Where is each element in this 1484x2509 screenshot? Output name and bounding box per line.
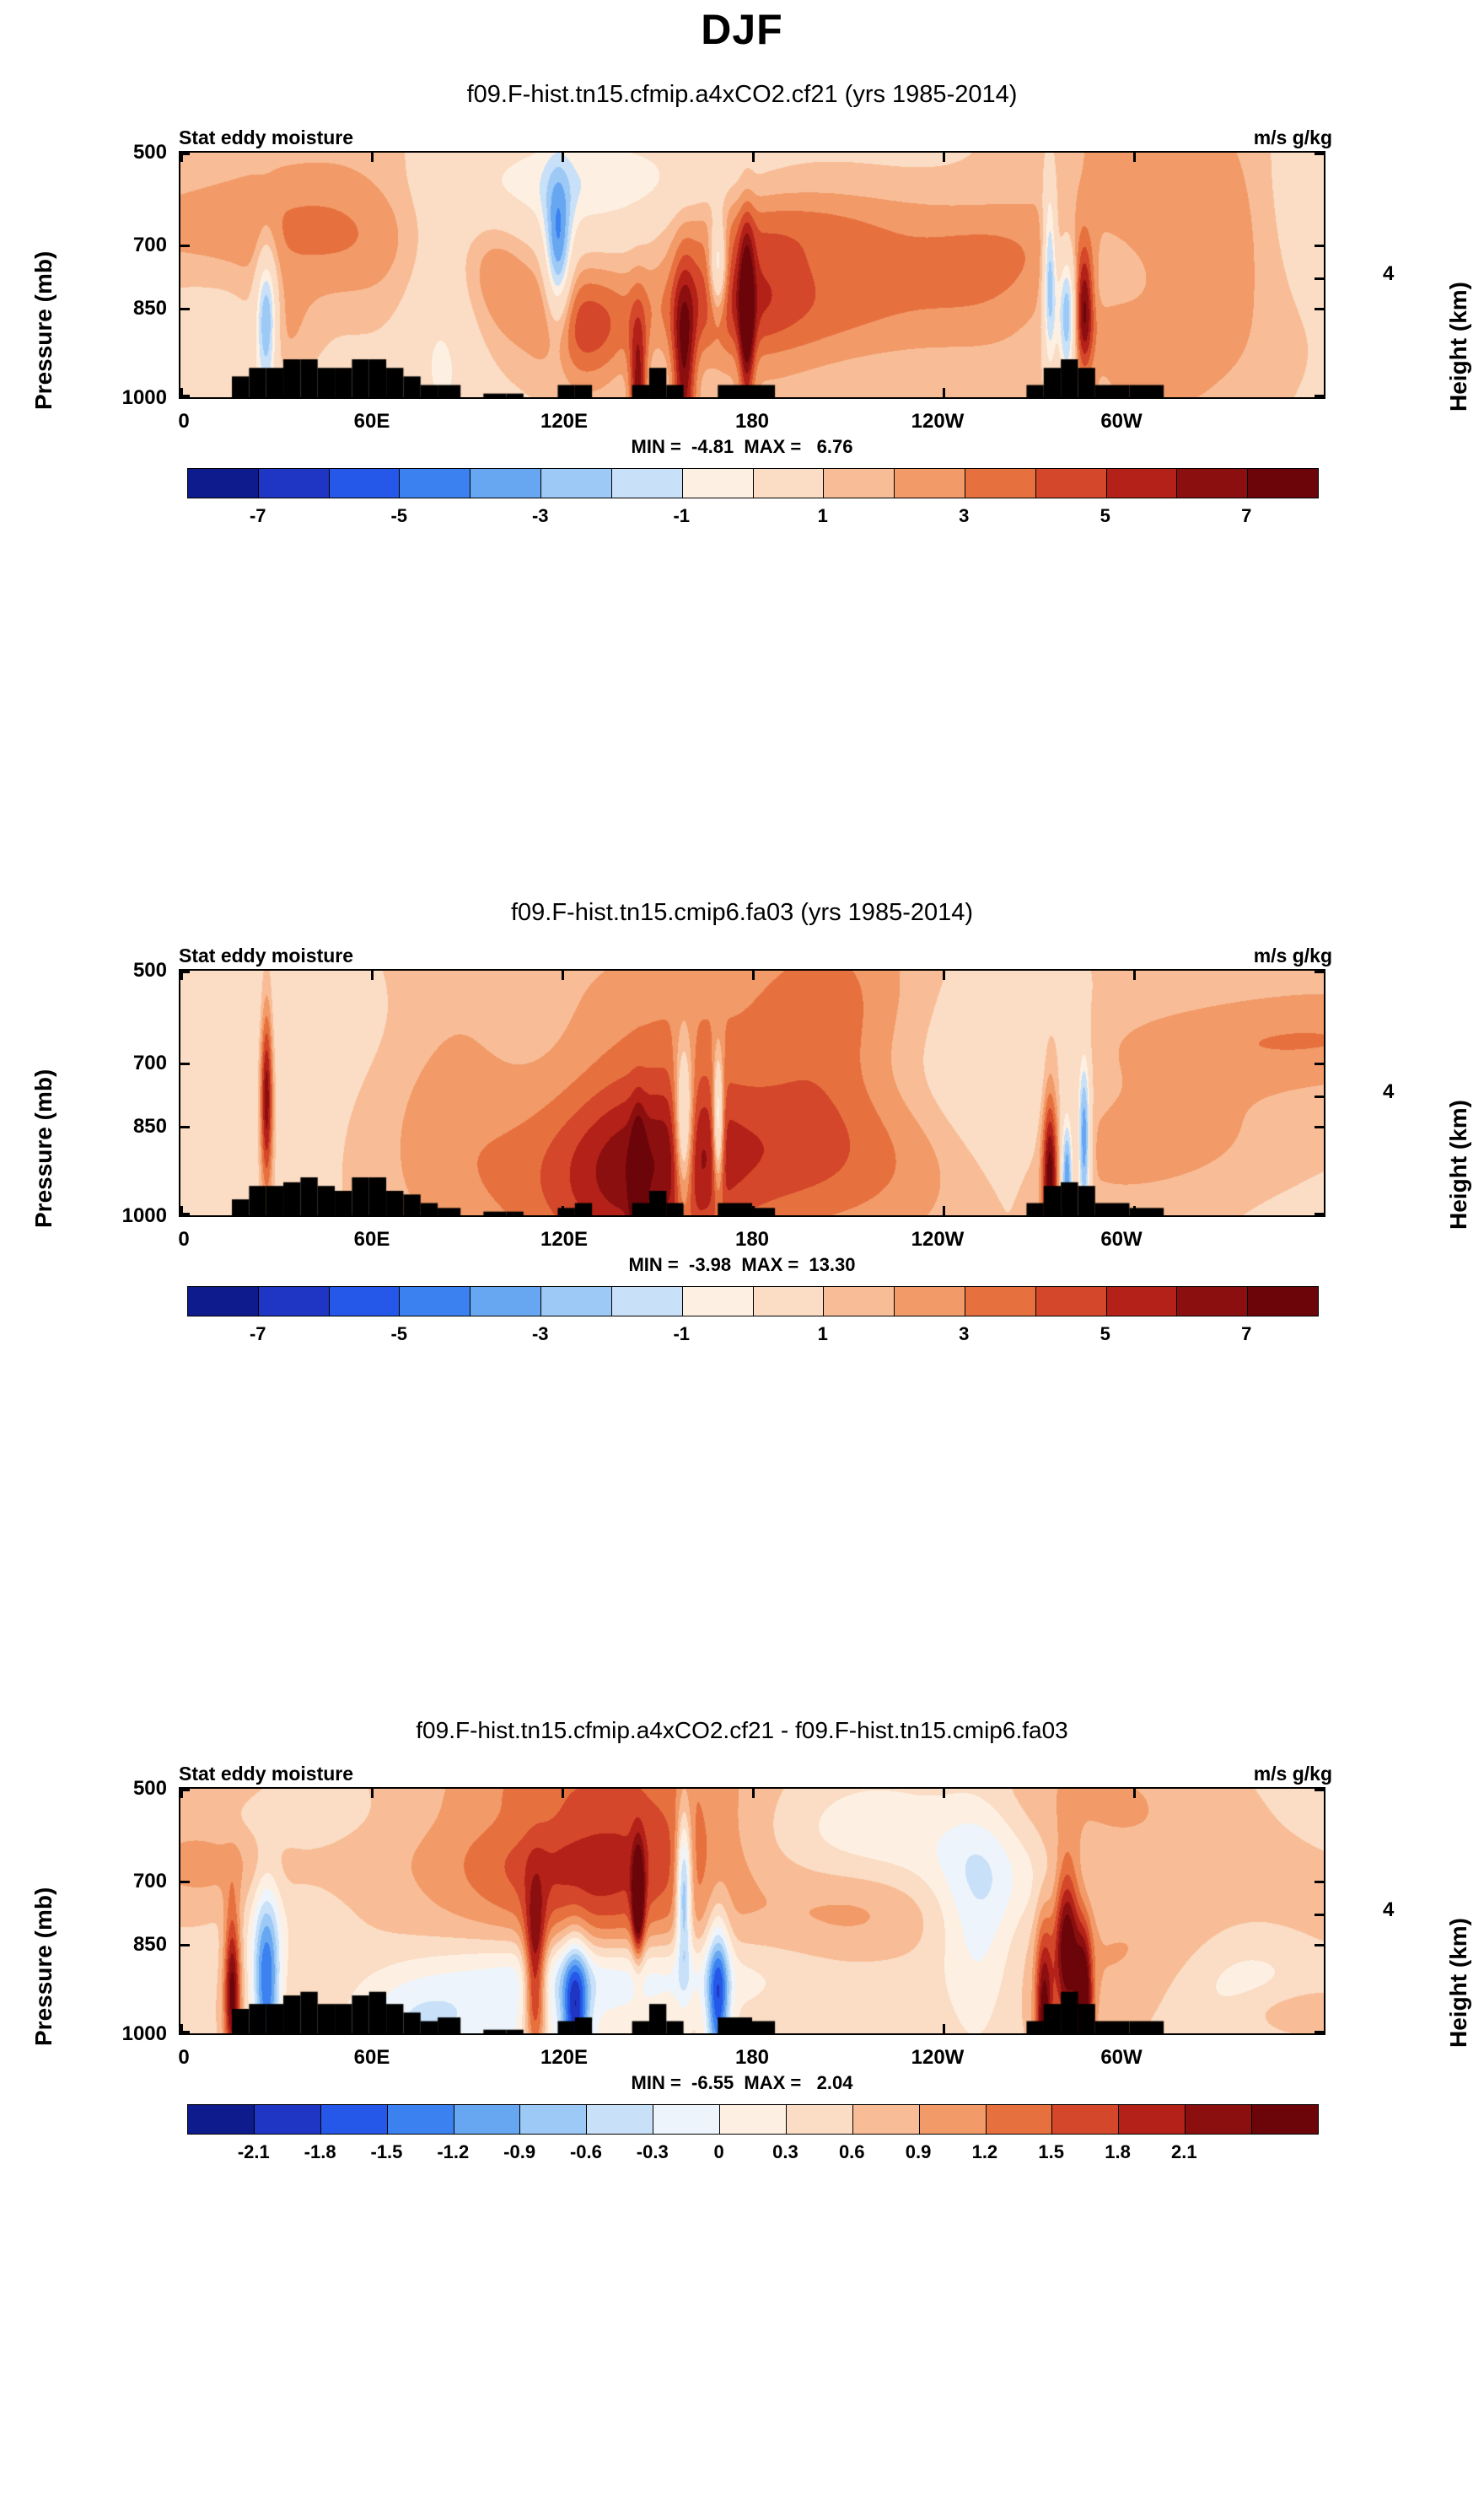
- colorbar-cell: [612, 1287, 683, 1316]
- colorbar-cell: [520, 2105, 587, 2134]
- x-tickmark: [371, 1206, 374, 1215]
- colorbar-tick-label: -7: [216, 505, 300, 527]
- colorbar-cell: [1052, 2105, 1119, 2134]
- panel-2-xtick-0: 0: [159, 1228, 209, 1252]
- x-tickmark: [1133, 388, 1136, 397]
- colorbar-tick-label: 5: [1063, 1323, 1148, 1345]
- colorbar-cell: [188, 1287, 259, 1316]
- panel-1-xtick-180: 180: [718, 410, 786, 433]
- main-title: DJF: [0, 5, 1484, 54]
- y-tickmark: [1315, 395, 1324, 397]
- y-tickmark: [180, 245, 190, 247]
- panel-3-xtick-180: 180: [718, 2046, 786, 2070]
- colorbar-cell: [965, 1287, 1036, 1316]
- y-tickmark: [180, 395, 190, 397]
- x-tickmark: [752, 388, 755, 397]
- colorbar-cell: [824, 1287, 895, 1316]
- panel-3-minmax: MIN = -6.55 MAX = 2.04: [0, 2072, 1484, 2094]
- colorbar-cell: [188, 2105, 255, 2134]
- panel-1-xtick-120E: 120E: [522, 410, 606, 433]
- y-tickmark: [1315, 971, 1324, 973]
- y-tickmark: [180, 1063, 190, 1065]
- panel-1-minmax: MIN = -4.81 MAX = 6.76: [0, 436, 1484, 458]
- colorbar-cell: [188, 469, 259, 498]
- colorbar-cell: [470, 469, 541, 498]
- y-tickmark: [1315, 1944, 1324, 1946]
- colorbar-tick-label: -5: [357, 505, 441, 527]
- colorbar-tick-label: -1: [639, 1323, 723, 1345]
- x-tickmark: [943, 971, 945, 980]
- panel-3-ytick-500: 500: [7, 1777, 167, 1801]
- colorbar-cell: [1107, 469, 1178, 498]
- colorbar-cell: [587, 2105, 653, 2134]
- colorbar-tick-label: -1: [639, 505, 723, 527]
- x-tickmark: [943, 1206, 945, 1215]
- y-tickmark: [1315, 1213, 1324, 1215]
- colorbar-cell: [1036, 1287, 1107, 1316]
- colorbar-cell: [1248, 1287, 1318, 1316]
- colorbar-cell: [321, 2105, 388, 2134]
- y-tickmark: [180, 153, 190, 155]
- y-tickmark-right: [1315, 1914, 1324, 1916]
- figure-page: DJF f09.F-hist.tn15.cfmip.a4xCO2.cf21 (y…: [0, 0, 1484, 2509]
- colorbar-cell: [1177, 469, 1248, 498]
- colorbar-tick-label: 1: [781, 505, 865, 527]
- x-tickmark: [562, 1206, 564, 1215]
- colorbar-cell: [255, 2105, 321, 2134]
- x-tickmark: [371, 2024, 374, 2033]
- colorbar-cell: [754, 469, 825, 498]
- colorbar-cell: [388, 2105, 454, 2134]
- panel-3-xtick-60W: 60W: [1088, 2046, 1155, 2070]
- colorbar-tick-label: -7: [216, 1323, 300, 1345]
- panel-2-ytick-850: 850: [7, 1115, 167, 1139]
- panel-2-ytick-right-4: 4: [1383, 1080, 1394, 1104]
- y-tickmark: [1315, 1063, 1324, 1065]
- panel-1-xtick-60W: 60W: [1088, 410, 1155, 433]
- panel-1-axes: [179, 151, 1325, 399]
- panel-3: f09.F-hist.tn15.cfmip.a4xCO2.cf21 - f09.…: [0, 1717, 1484, 2476]
- panel-3-xtick-120W: 120W: [895, 2046, 980, 2070]
- x-tickmark: [943, 1789, 945, 1798]
- y-tickmark: [180, 308, 190, 310]
- y-tickmark: [1315, 1126, 1324, 1128]
- x-tickmark: [371, 153, 374, 162]
- colorbar-cell: [541, 1287, 612, 1316]
- colorbar-cell: [330, 1287, 401, 1316]
- x-tickmark: [562, 1789, 564, 1798]
- panel-2-colorbar: [187, 1286, 1319, 1316]
- x-tickmark: [562, 388, 564, 397]
- colorbar-tick-label: 1: [781, 1323, 865, 1345]
- panel-3-xtick-0: 0: [159, 2046, 209, 2070]
- panel-2-xtick-60W: 60W: [1088, 1228, 1155, 1252]
- x-tickmark: [943, 2024, 945, 2033]
- panel-2-plot: 500 700 850 1000 4 0 60E 120E 180 120W 6…: [0, 899, 1484, 1641]
- x-tickmark: [943, 153, 945, 162]
- y-tickmark: [1315, 153, 1324, 155]
- colorbar-cell: [1177, 1287, 1248, 1316]
- colorbar-cell: [1119, 2105, 1186, 2134]
- panel-2-ytick-700: 700: [7, 1052, 167, 1075]
- y-tickmark: [180, 971, 190, 973]
- colorbar-cell: [920, 2105, 987, 2134]
- x-tickmark: [371, 388, 374, 397]
- panel-1-xtick-60E: 60E: [338, 410, 406, 433]
- colorbar-cell: [824, 469, 895, 498]
- colorbar-tick-label: 5: [1063, 505, 1148, 527]
- colorbar-cell: [895, 1287, 965, 1316]
- colorbar-tick-label: 7: [1204, 505, 1288, 527]
- panel-1-colorbar: [187, 468, 1319, 498]
- x-tickmark: [752, 971, 755, 980]
- x-tickmark: [562, 2024, 564, 2033]
- panel-2: f09.F-hist.tn15.cmip6.fa03 (yrs 1985-201…: [0, 899, 1484, 1641]
- colorbar-cell: [470, 1287, 541, 1316]
- panel-2-xtick-120W: 120W: [895, 1228, 980, 1252]
- panel-1-plot: 500 700 850 1000 4 0 60E 120E 180 120W 6…: [0, 81, 1484, 823]
- colorbar-tick-label: -5: [357, 1323, 441, 1345]
- colorbar-cell: [853, 2105, 920, 2134]
- panel-1-xtick-120W: 120W: [895, 410, 980, 433]
- panel-1-ytick-1000: 1000: [7, 386, 167, 410]
- panel-3-ytick-right-4: 4: [1383, 1898, 1394, 1922]
- x-tickmark: [562, 153, 564, 162]
- colorbar-cell: [400, 469, 470, 498]
- colorbar-cell: [895, 469, 965, 498]
- colorbar-cell: [653, 2105, 720, 2134]
- y-tickmark: [180, 1944, 190, 1946]
- y-tickmark: [180, 1126, 190, 1128]
- colorbar-cell: [754, 1287, 825, 1316]
- panel-2-axes: [179, 969, 1325, 1217]
- x-tickmark: [562, 971, 564, 980]
- colorbar-cell: [454, 2105, 521, 2134]
- y-tickmark: [180, 1881, 190, 1883]
- colorbar-cell: [965, 469, 1036, 498]
- colorbar-tick-label: 7: [1204, 1323, 1288, 1345]
- panel-3-xtick-120E: 120E: [522, 2046, 606, 2070]
- x-tickmark: [1133, 1789, 1136, 1798]
- x-tickmark: [752, 1789, 755, 1798]
- panel-3-ytick-850: 850: [7, 1933, 167, 1957]
- panel-3-ytick-1000: 1000: [7, 2022, 167, 2046]
- panel-2-minmax: MIN = -3.98 MAX = 13.30: [0, 1254, 1484, 1276]
- panel-2-xtick-120E: 120E: [522, 1228, 606, 1252]
- panel-3-ytick-700: 700: [7, 1870, 167, 1893]
- panel-1: f09.F-hist.tn15.cfmip.a4xCO2.cf21 (yrs 1…: [0, 81, 1484, 823]
- colorbar-cell: [1186, 2105, 1252, 2134]
- x-tickmark: [943, 388, 945, 397]
- colorbar-tick-label: 2.1: [1142, 2141, 1226, 2163]
- panel-1-ytick-500: 500: [7, 141, 167, 164]
- y-tickmark: [1315, 245, 1324, 247]
- y-tickmark: [1315, 2031, 1324, 2033]
- colorbar-cell: [1252, 2105, 1318, 2134]
- x-tickmark: [1133, 1206, 1136, 1215]
- colorbar-cell: [259, 469, 330, 498]
- panel-1-ytick-700: 700: [7, 234, 167, 257]
- x-tickmark: [1133, 153, 1136, 162]
- colorbar-tick-label: 3: [922, 1323, 1006, 1345]
- colorbar-cell: [1036, 469, 1107, 498]
- panel-1-ytick-850: 850: [7, 297, 167, 320]
- y-tickmark: [1315, 1789, 1324, 1791]
- colorbar-cell: [1248, 469, 1318, 498]
- y-tickmark-right: [1315, 1096, 1324, 1098]
- colorbar-cell: [683, 1287, 754, 1316]
- panel-2-ytick-500: 500: [7, 959, 167, 983]
- y-tickmark: [1315, 308, 1324, 310]
- colorbar-cell: [400, 1287, 470, 1316]
- panel-3-axes: [179, 1787, 1325, 2035]
- x-tickmark: [1133, 2024, 1136, 2033]
- panel-1-ytick-right-4: 4: [1383, 262, 1394, 286]
- colorbar-cell: [1107, 1287, 1178, 1316]
- y-tickmark: [180, 1213, 190, 1215]
- x-tickmark: [371, 971, 374, 980]
- colorbar-tick-label: -3: [498, 1323, 583, 1345]
- colorbar-tick-label: -3: [498, 505, 583, 527]
- colorbar-tick-label: 3: [922, 505, 1006, 527]
- panel-3-xtick-60E: 60E: [338, 2046, 406, 2070]
- y-tickmark: [180, 1789, 190, 1791]
- panel-3-colorbar: [187, 2104, 1319, 2135]
- colorbar-cell: [787, 2105, 853, 2134]
- x-tickmark: [752, 1206, 755, 1215]
- x-tickmark: [1133, 971, 1136, 980]
- panel-2-xtick-180: 180: [718, 1228, 786, 1252]
- panel-1-xtick-0: 0: [159, 410, 209, 433]
- x-tickmark: [752, 153, 755, 162]
- panel-2-ytick-1000: 1000: [7, 1204, 167, 1228]
- colorbar-cell: [259, 1287, 330, 1316]
- panel-2-xtick-60E: 60E: [338, 1228, 406, 1252]
- x-tickmark: [752, 2024, 755, 2033]
- x-tickmark: [371, 1789, 374, 1798]
- colorbar-cell: [612, 469, 683, 498]
- colorbar-cell: [330, 469, 401, 498]
- colorbar-cell: [720, 2105, 787, 2134]
- y-tickmark-right: [1315, 277, 1324, 280]
- panel-3-plot: 500 700 850 1000 4 0 60E 120E 180 120W 6…: [0, 1717, 1484, 2476]
- colorbar-cell: [541, 469, 612, 498]
- y-tickmark: [180, 2031, 190, 2033]
- colorbar-cell: [683, 469, 754, 498]
- y-tickmark: [1315, 1881, 1324, 1883]
- colorbar-cell: [987, 2105, 1053, 2134]
